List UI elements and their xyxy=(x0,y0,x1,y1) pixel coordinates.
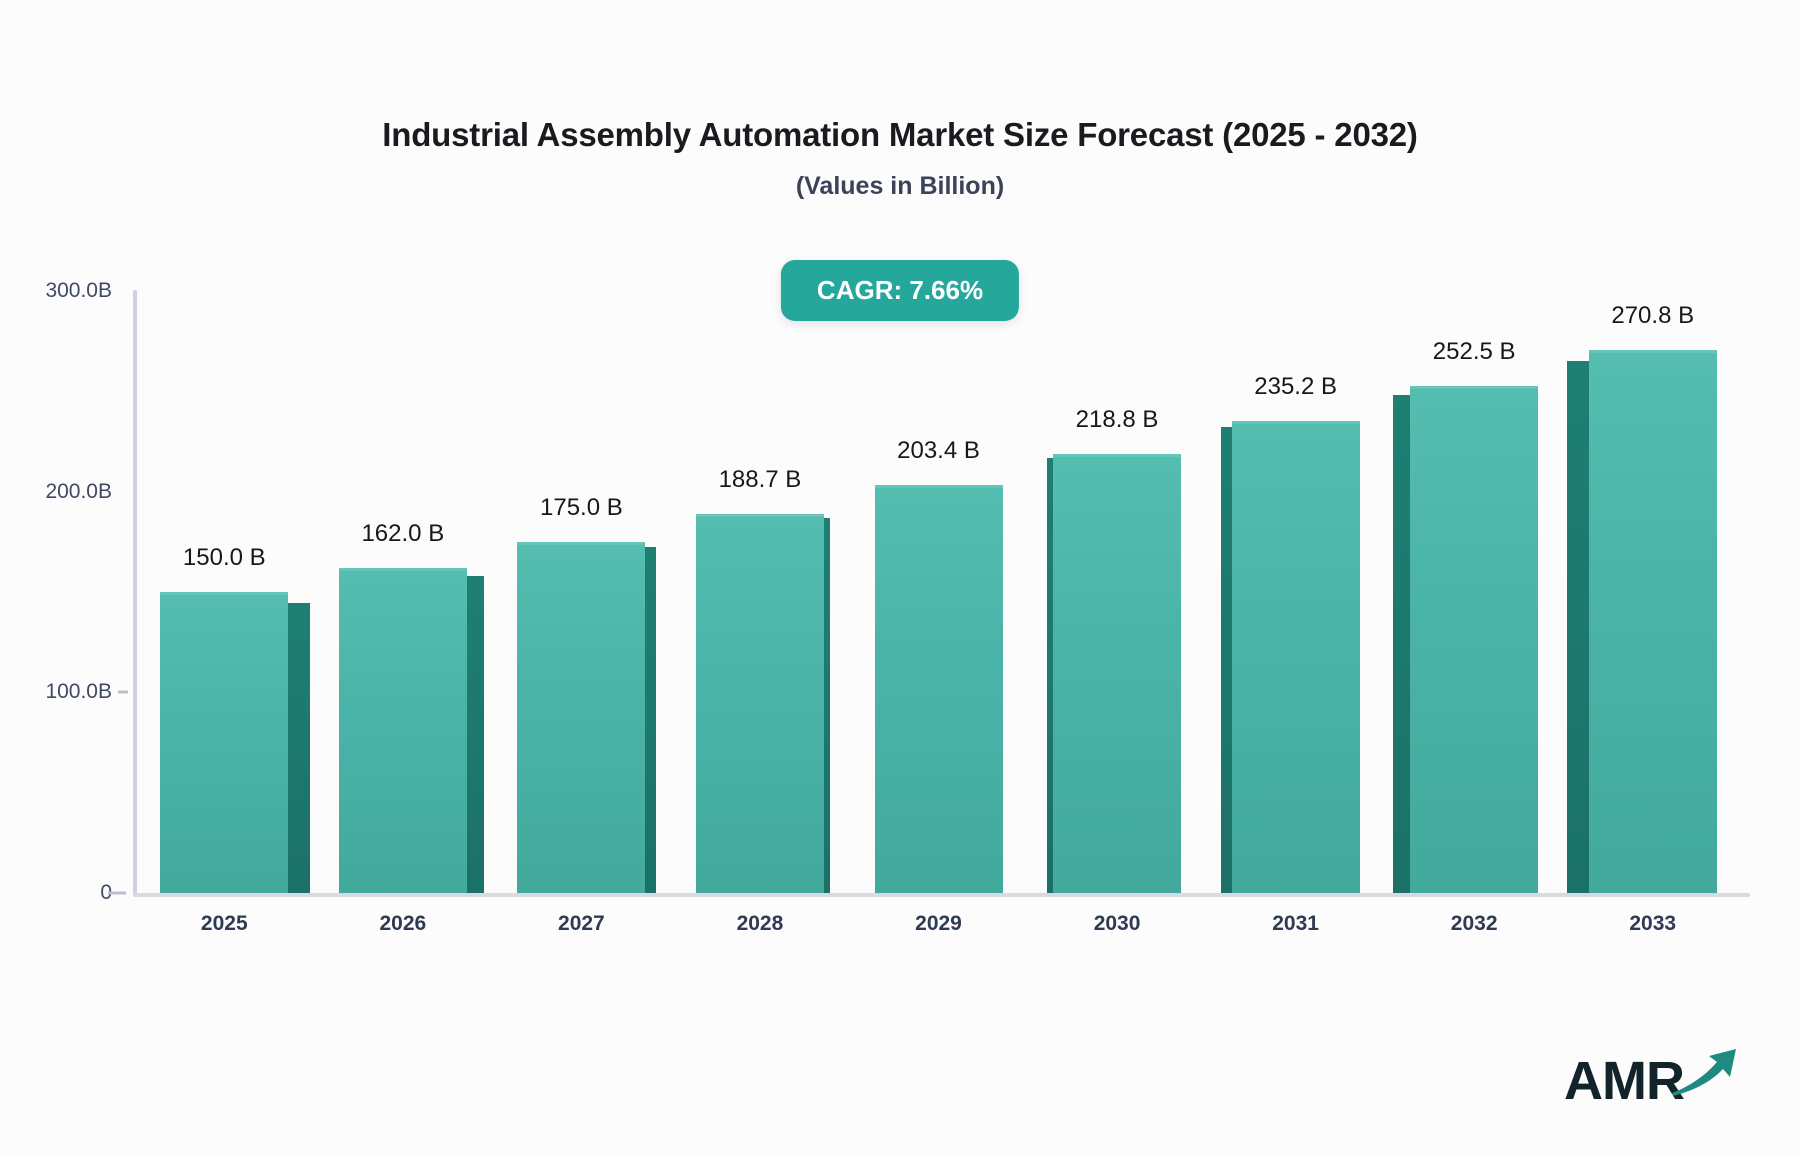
x-axis-line xyxy=(133,893,1750,897)
x-axis-category-label: 2030 xyxy=(1094,912,1141,936)
bar[interactable] xyxy=(875,485,1003,893)
bar-value-label: 218.8 B xyxy=(1076,406,1159,434)
x-axis-category-label: 2032 xyxy=(1451,912,1498,936)
growth-arrow-icon xyxy=(1670,1045,1740,1104)
bar[interactable] xyxy=(517,542,645,893)
bar-value-label: 235.2 B xyxy=(1254,373,1337,401)
bar-front-face xyxy=(875,485,1003,893)
bar-side-face xyxy=(288,603,310,893)
bar-front-face xyxy=(1589,350,1717,893)
x-axis-category-label: 2028 xyxy=(737,912,784,936)
bar[interactable] xyxy=(696,514,824,893)
y-axis-tick-label: 0 xyxy=(2,881,112,905)
bar-front-face xyxy=(339,568,467,893)
bar[interactable] xyxy=(339,568,467,893)
bar-value-label: 252.5 B xyxy=(1433,338,1516,366)
bar-side-face xyxy=(1393,395,1410,893)
bar[interactable] xyxy=(1410,386,1538,893)
y-axis-tick-label: 300.0B xyxy=(2,279,112,303)
bar-value-label: 188.7 B xyxy=(719,466,802,494)
bar-side-face xyxy=(1567,361,1589,893)
y-axis-tick-label: 100.0B xyxy=(2,680,112,704)
x-axis-category-label: 2033 xyxy=(1629,912,1676,936)
chart-canvas: Industrial Assembly Automation Market Si… xyxy=(0,0,1800,1156)
x-axis-category-label: 2029 xyxy=(915,912,962,936)
bar-front-face xyxy=(1232,421,1360,893)
bar-value-label: 162.0 B xyxy=(361,520,444,548)
bar[interactable] xyxy=(1232,421,1360,893)
bar-front-face xyxy=(517,542,645,893)
bar-side-face xyxy=(824,518,830,893)
bar-front-face xyxy=(160,592,288,893)
logo-wordmark: AMR xyxy=(1564,1054,1684,1108)
y-axis-line xyxy=(133,290,137,896)
bar-value-label: 203.4 B xyxy=(897,437,980,465)
bar-side-face xyxy=(645,547,656,893)
bar[interactable] xyxy=(1053,454,1181,893)
x-axis-category-label: 2026 xyxy=(379,912,426,936)
bar-front-face xyxy=(696,514,824,893)
x-axis-category-label: 2031 xyxy=(1272,912,1319,936)
amr-logo: AMR xyxy=(1564,1045,1740,1108)
plot-area: 0100.0B200.0B300.0B 150.0 B162.0 B175.0 … xyxy=(0,0,1800,1156)
bar-value-label: 150.0 B xyxy=(183,544,266,572)
bar-side-face xyxy=(467,576,484,893)
x-axis-category-label: 2025 xyxy=(201,912,248,936)
bar-side-face xyxy=(1221,427,1232,893)
y-axis-tick-mark xyxy=(108,892,126,895)
bar[interactable] xyxy=(160,592,288,893)
bar[interactable] xyxy=(1589,350,1717,893)
bar-value-label: 270.8 B xyxy=(1611,302,1694,330)
bar-front-face xyxy=(1053,454,1181,893)
bar-value-label: 175.0 B xyxy=(540,494,623,522)
y-axis-tick-label: 200.0B xyxy=(2,480,112,504)
y-axis-tick-mark xyxy=(118,691,128,694)
x-axis-category-label: 2027 xyxy=(558,912,605,936)
bar-front-face xyxy=(1410,386,1538,893)
